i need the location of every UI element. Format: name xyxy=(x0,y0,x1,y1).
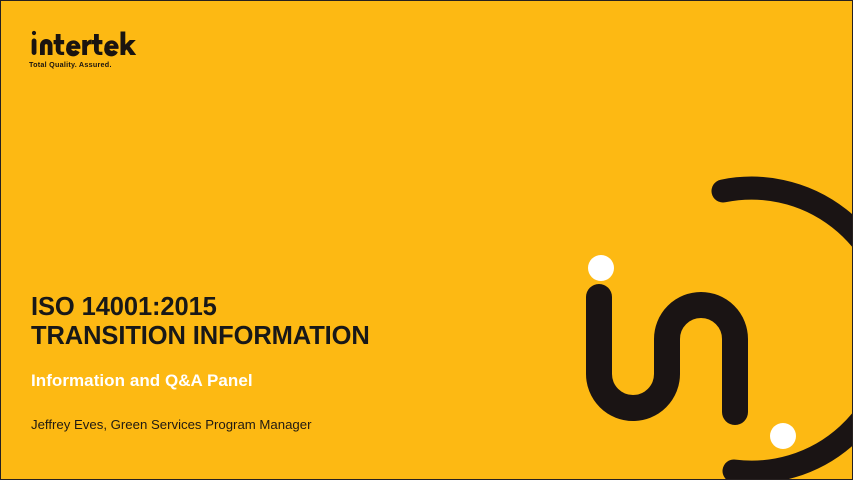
intertek-wordmark-icon xyxy=(29,29,139,57)
monogram-gap-dot xyxy=(770,423,796,449)
presentation-slide: Total Quality. Assured. ISO 14001:2015 T… xyxy=(0,0,853,480)
slide-text-block: ISO 14001:2015 TRANSITION INFORMATION In… xyxy=(31,293,461,433)
page-title-line-2: TRANSITION INFORMATION xyxy=(31,322,461,351)
presenter-byline: Jeffrey Eves, Green Services Program Man… xyxy=(31,416,461,433)
intertek-tagline: Total Quality. Assured. xyxy=(29,60,259,69)
monogram-in-glyph xyxy=(599,297,735,412)
page-title-line-1: ISO 14001:2015 xyxy=(31,293,461,322)
slide-subtitle: Information and Q&A Panel xyxy=(31,370,461,391)
intertek-logo: Total Quality. Assured. xyxy=(29,29,259,77)
intertek-monogram-icon xyxy=(463,159,853,480)
monogram-ring xyxy=(723,188,853,472)
monogram-i-dot xyxy=(588,255,614,281)
